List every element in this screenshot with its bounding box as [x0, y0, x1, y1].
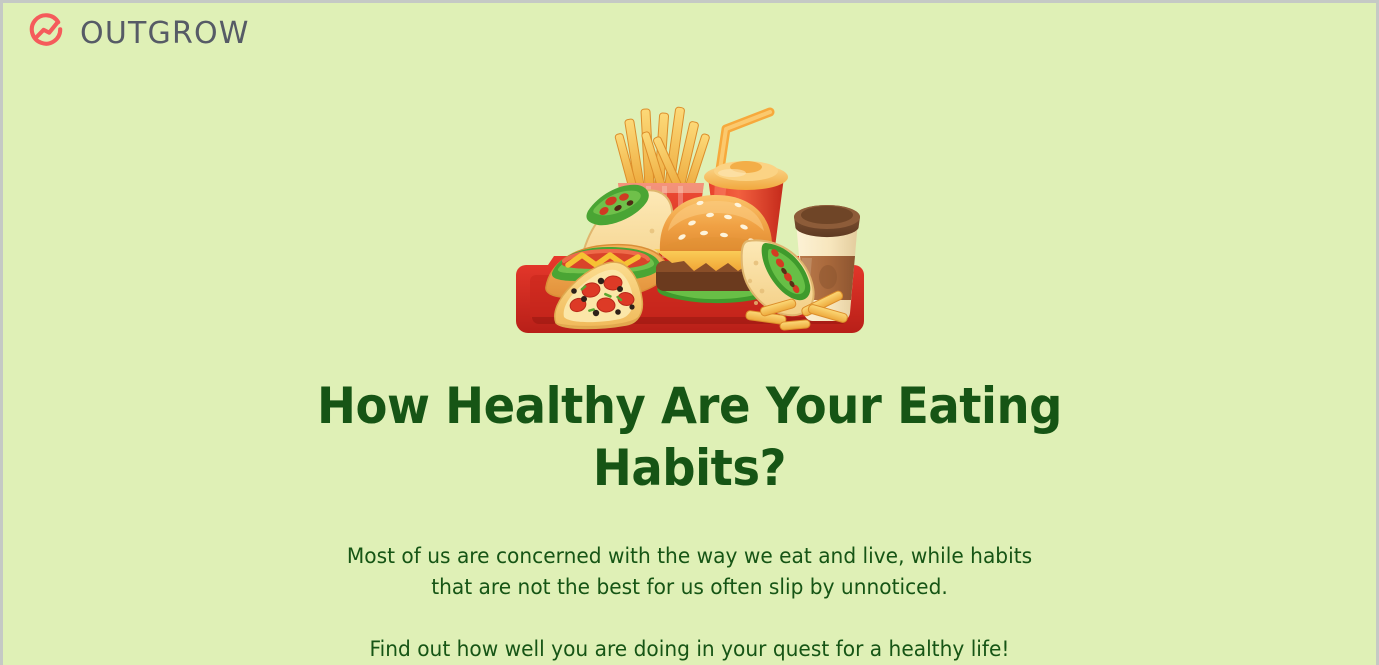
fast-food-tray-illustration [512, 91, 868, 353]
intro-copy: Most of us are concerned with the way we… [3, 541, 1376, 665]
brand-wordmark: OUTGROW [80, 19, 250, 49]
outgrow-logo-icon[interactable] [25, 13, 67, 55]
intro-paragraph-1: Most of us are concerned with the way we… [338, 541, 1042, 603]
brand-header[interactable]: OUTGROW [25, 12, 250, 56]
quiz-landing-page: OUTGROW [0, 0, 1379, 665]
intro-paragraph-2: Find out how well you are doing in your … [338, 634, 1042, 665]
page-title: How Healthy Are Your Eating Habits? [51, 375, 1328, 499]
